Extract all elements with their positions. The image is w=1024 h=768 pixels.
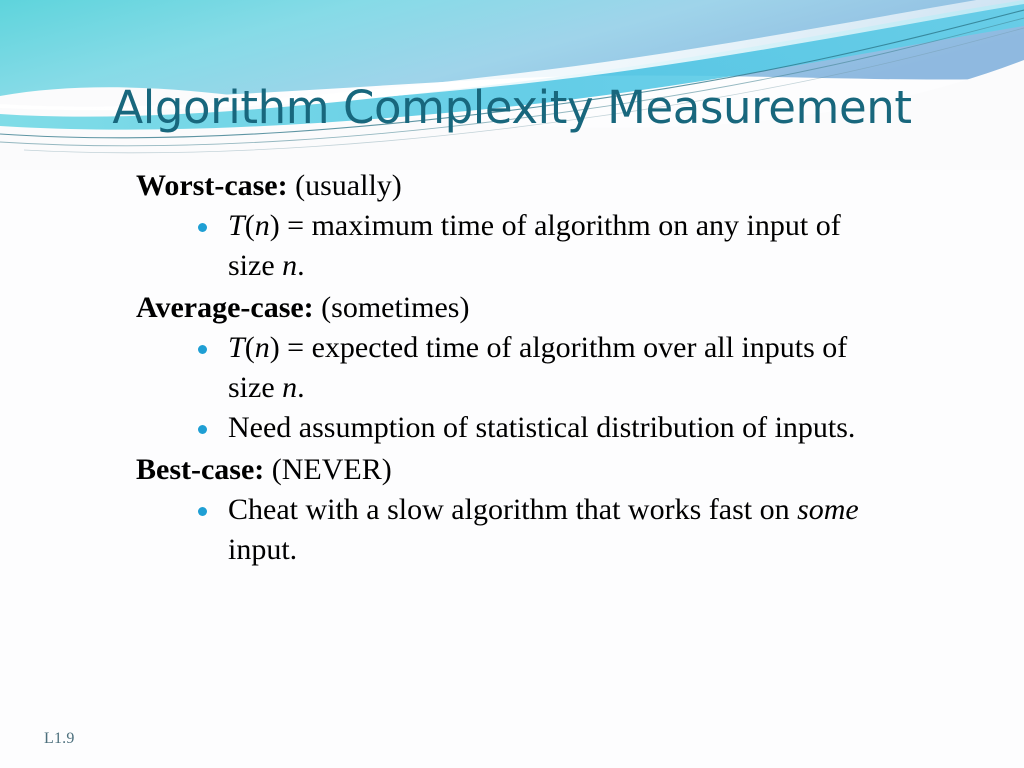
case-heading-worst: Worst-case: (usually)	[136, 166, 936, 206]
bullet-text: Cheat with a slow algorithm that works f…	[228, 493, 859, 566]
list-item: T(n) = expected time of algorithm over a…	[192, 328, 888, 408]
case-heading-average: Average-case: (sometimes)	[136, 288, 936, 328]
list-item: Need assumption of statistical distribut…	[192, 408, 888, 448]
bullet-list-best: Cheat with a slow algorithm that works f…	[136, 490, 936, 570]
bullet-dot-icon	[198, 507, 207, 516]
case-qualifier-best: (NEVER)	[264, 453, 391, 486]
case-qualifier-worst: (usually)	[288, 169, 402, 202]
case-heading-best: Best-case: (NEVER)	[136, 450, 936, 490]
case-label-average: Average-case:	[136, 291, 314, 324]
case-label-best: Best-case:	[136, 453, 264, 486]
case-block-worst: Worst-case: (usually) T(n) = maximum tim…	[136, 166, 936, 286]
bullet-dot-icon	[198, 425, 207, 434]
bullet-list-average: T(n) = expected time of algorithm over a…	[136, 328, 936, 448]
bullet-text: T(n) = expected time of algorithm over a…	[228, 331, 847, 404]
bullet-text: Need assumption of statistical distribut…	[228, 411, 855, 444]
slide-body: Worst-case: (usually) T(n) = maximum tim…	[136, 166, 936, 570]
bullet-dot-icon	[198, 223, 207, 232]
bullet-text: T(n) = maximum time of algorithm on any …	[228, 209, 841, 282]
case-block-average: Average-case: (sometimes) T(n) = expecte…	[136, 288, 936, 448]
case-qualifier-average: (sometimes)	[314, 291, 470, 324]
presentation-slide: Algorithm Complexity Measurement Worst-c…	[0, 0, 1024, 768]
bullet-dot-icon	[198, 345, 207, 354]
case-label-worst: Worst-case:	[136, 169, 288, 202]
slide-footer-label: L1.9	[44, 730, 75, 748]
list-item: Cheat with a slow algorithm that works f…	[192, 490, 888, 570]
list-item: T(n) = maximum time of algorithm on any …	[192, 206, 888, 286]
case-block-best: Best-case: (NEVER) Cheat with a slow alg…	[136, 450, 936, 570]
bullet-list-worst: T(n) = maximum time of algorithm on any …	[136, 206, 936, 286]
page-title: Algorithm Complexity Measurement	[0, 84, 1024, 131]
